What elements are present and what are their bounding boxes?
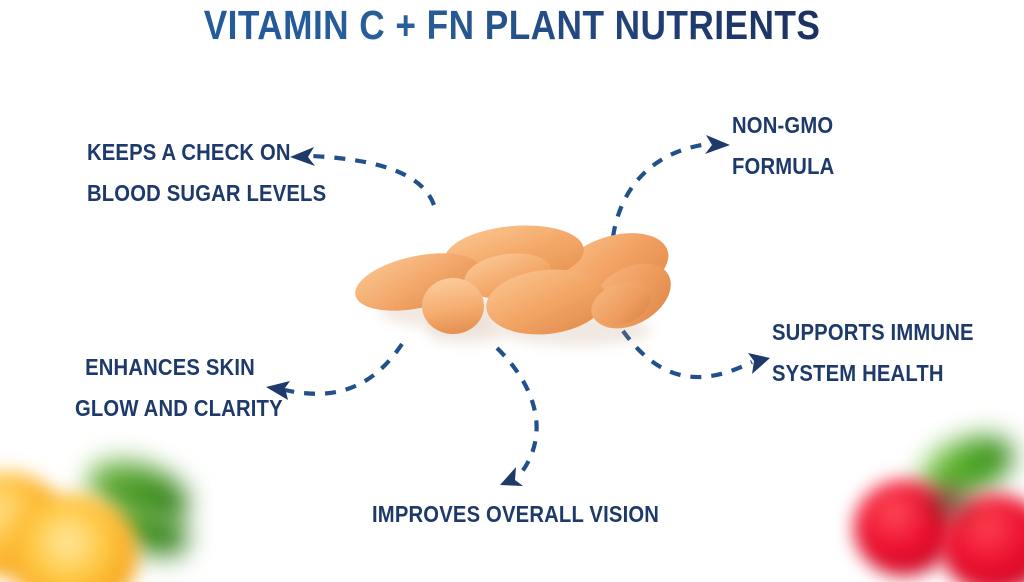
tablet-round-front	[422, 278, 484, 334]
callout-non-gmo-line2: FORMULA	[732, 146, 908, 187]
callout-non-gmo-line1: NON-GMO	[732, 105, 908, 146]
orange-leaf-front	[102, 491, 196, 566]
berry-stem	[932, 488, 966, 514]
berry-left	[854, 480, 954, 576]
callout-skin-line2: GLOW AND CLARITY	[75, 388, 265, 429]
callout-skin-line1: ENHANCES SKIN	[75, 347, 265, 388]
callout-vision-line1: IMPROVES OVERALL VISION	[372, 494, 636, 535]
callout-blood-sugar-line1: KEEPS A CHECK ON	[87, 132, 277, 173]
callout-blood-sugar: KEEPS A CHECK ON BLOOD SUGAR LEVELS	[87, 132, 277, 214]
callout-blood-sugar-line2: BLOOD SUGAR LEVELS	[87, 173, 277, 214]
berries-photo	[836, 438, 1024, 582]
callout-immune-line2: SYSTEM HEALTH	[772, 353, 974, 394]
callout-immune: SUPPORTS IMMUNE SYSTEM HEALTH	[772, 312, 974, 394]
page-title: VITAMIN C + FN PLANT NUTRIENTS	[72, 2, 953, 48]
berry-right	[940, 494, 1024, 582]
callout-non-gmo: NON-GMO FORMULA	[732, 105, 908, 187]
orange-half-front	[10, 494, 138, 582]
tablets-cluster-image	[352, 222, 662, 357]
callout-skin: ENHANCES SKIN GLOW AND CLARITY	[75, 347, 265, 429]
orange-leaf-back	[80, 449, 196, 534]
callout-vision: IMPROVES OVERALL VISION	[372, 494, 636, 535]
arrow-to-vision	[497, 348, 537, 486]
callout-immune-line1: SUPPORTS IMMUNE	[772, 312, 974, 353]
orange-half-back	[0, 472, 64, 576]
orange-fruit-photo	[0, 446, 192, 582]
infographic-canvas: VITAMIN C + FN PLANT NUTRIENTS	[0, 0, 1024, 582]
berry-leaf	[911, 424, 1022, 511]
